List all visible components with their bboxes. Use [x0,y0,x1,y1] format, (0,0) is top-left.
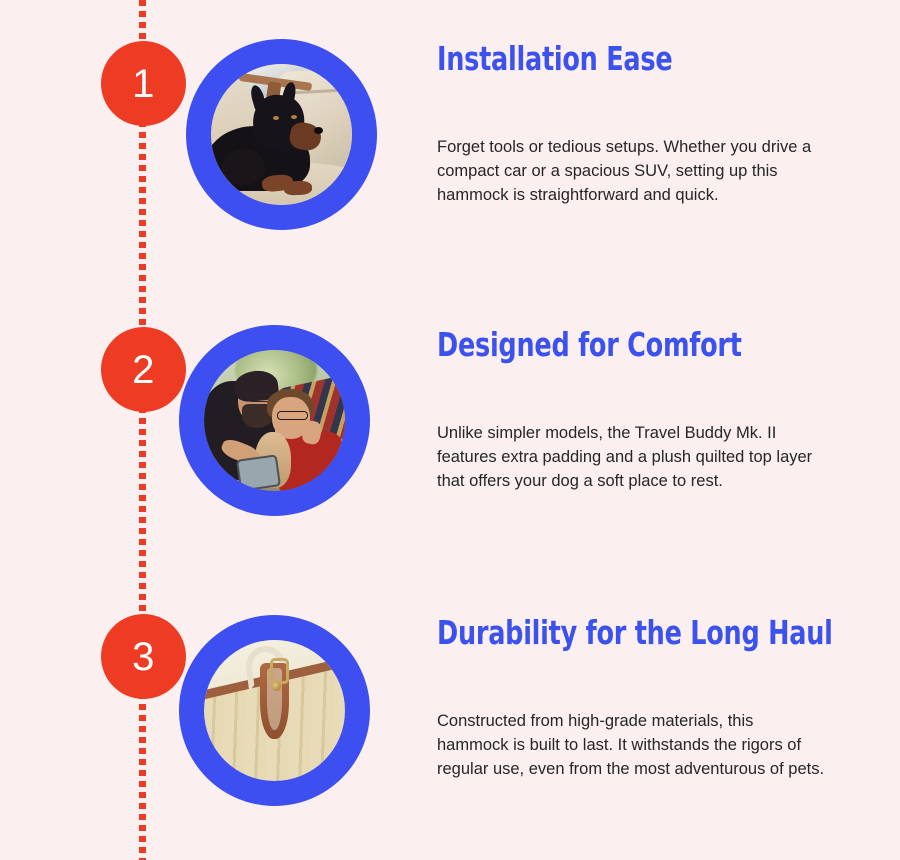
step-text-column-2: Designed for Comfort Unlike simpler mode… [437,328,837,493]
brass-stud-shape [272,682,281,691]
dog-right-eye-shape [291,115,297,119]
step-description: Constructed from high-grade materials, t… [437,709,829,781]
photo-hammock-fabric-detail [204,640,345,781]
step-text-column-1: Installation Ease Forget tools or tediou… [437,42,837,207]
step-number-badge-3: 3 [101,614,186,699]
photo-medallion-2 [179,325,370,516]
step-item-2: 2 Designed for Comfort Unlike simpler mo… [0,286,900,574]
step-title: Designed for Comfort [437,328,781,363]
step-number-badge-1: 1 [101,41,186,126]
step-item-1: 1 Installation Ease Forget tools or tedi… [0,0,900,290]
photo-dog-in-car-hammock [211,64,352,205]
timeline-dotted-line [139,0,146,860]
step-description: Unlike simpler models, the Travel Buddy … [437,421,829,493]
step-number-label: 3 [132,637,155,677]
photo-medallion-1 [186,39,377,230]
woman-glasses-shape [277,411,307,420]
step-description: Forget tools or tedious setups. Whether … [437,135,829,207]
dog-chest-shape [222,149,264,186]
step-number-label: 2 [132,350,155,390]
step-title: Durability for the Long Haul [437,616,781,651]
smartphone-shape [236,454,281,491]
step-number-label: 1 [132,64,155,104]
step-title: Installation Ease [437,42,781,77]
step-number-badge-2: 2 [101,327,186,412]
photo-couple-selfie-with-dog [204,350,345,491]
photo-medallion-3 [179,615,370,806]
brass-clip-shape [270,658,289,684]
step-text-column-3: Durability for the Long Haul Constructed… [437,616,837,781]
step-item-3: 3 Durability for the Long Haul Construct… [0,574,900,860]
